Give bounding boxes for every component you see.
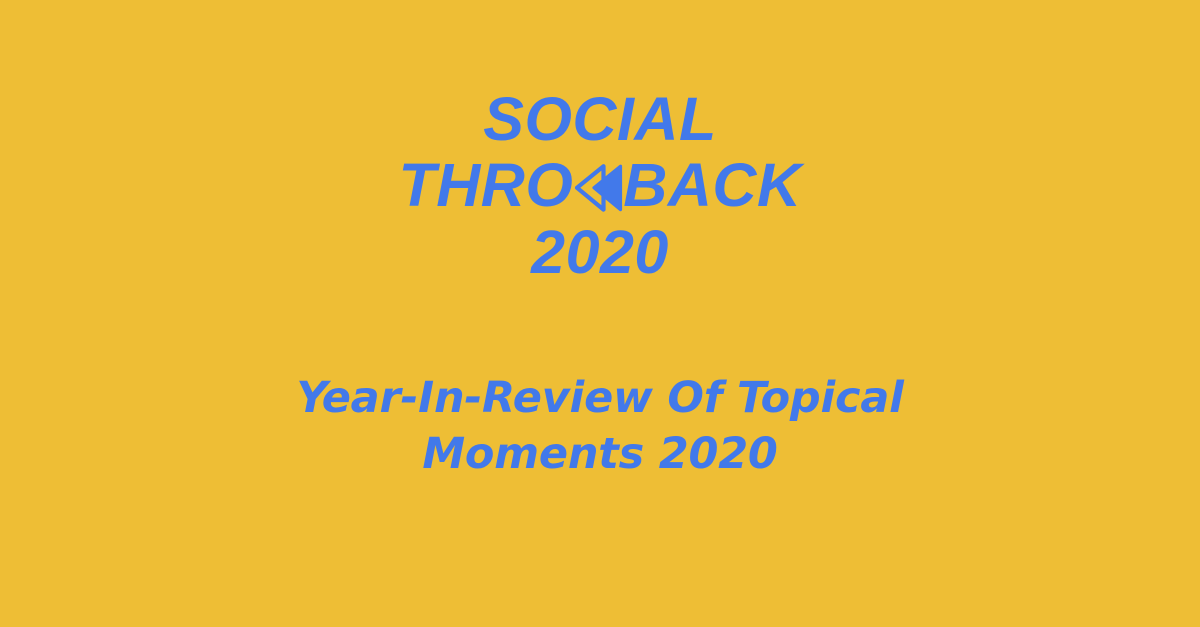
title-throwback-suffix: BACK [623, 156, 801, 215]
subtitle-line-1: Year-In-Review Of Topical [0, 375, 1200, 421]
poster-canvas: SOCIAL THRO BACK 2020 Year-In-Review Of … [0, 0, 1200, 627]
subtitle-line-2: Moments 2020 [0, 431, 1200, 477]
title-throwback-prefix: THRO [398, 156, 573, 215]
title-line-throwback: THRO BACK [0, 156, 1200, 215]
poster-subtitle: Year-In-Review Of Topical Moments 2020 [0, 375, 1200, 478]
rewind-back-icon [570, 163, 626, 213]
title-line-year: 2020 [0, 223, 1200, 282]
title-line-social: SOCIAL [0, 90, 1200, 149]
poster-title: SOCIAL THRO BACK 2020 [0, 90, 1200, 282]
